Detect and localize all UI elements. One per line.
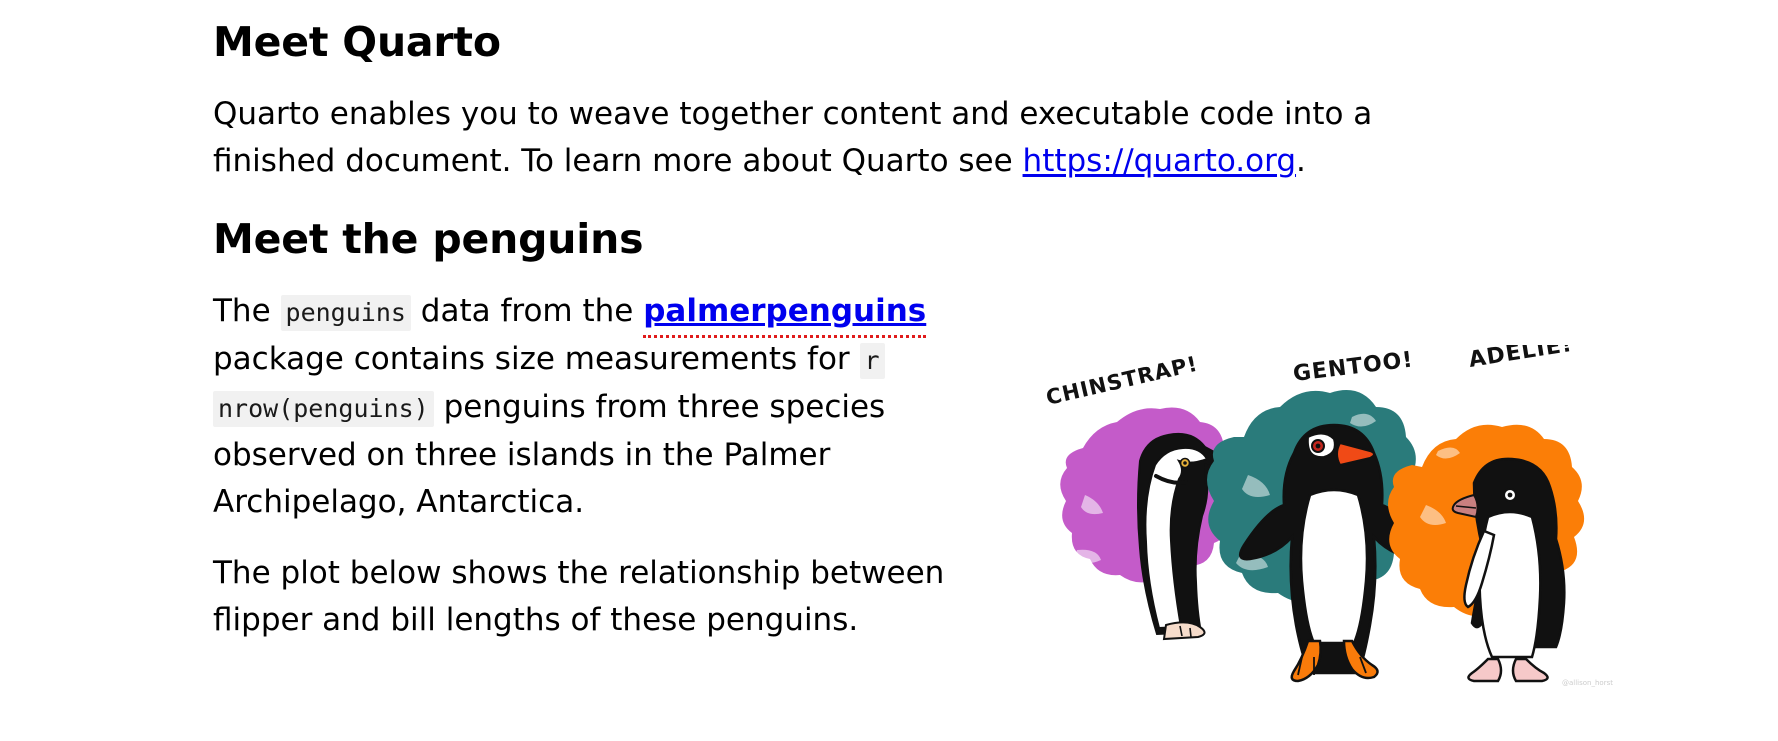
penguin-chinstrap-group: CHINSTRAP!: [1044, 352, 1234, 639]
penguins-paragraph: The penguins data from the palmerpenguin…: [213, 264, 958, 526]
quarto-org-link[interactable]: https://quarto.org: [1023, 143, 1296, 179]
penguins-text-seg1: The: [213, 293, 281, 329]
spellcheck-underline: [643, 332, 926, 338]
code-span-r: r: [860, 343, 885, 379]
page-title: Meet Quarto: [213, 0, 1503, 67]
chinstrap-label: CHINSTRAP!: [1044, 352, 1201, 410]
gentoo-left-foot: [1292, 641, 1321, 681]
adelie-label: ADÉLIE!: [1467, 345, 1574, 373]
artwork-credit: @allison_horst: [1562, 679, 1613, 687]
code-span-nrow-penguins: nrow(penguins): [213, 391, 434, 427]
adelie-label-group: ADÉLIE!: [1467, 345, 1574, 373]
document-page: Meet Quarto Quarto enables you to weave …: [0, 0, 1778, 741]
gentoo-belly: [1301, 490, 1367, 643]
section-heading-penguins: Meet the penguins: [213, 185, 1503, 264]
penguin-adelie-group: ADÉLIE!: [1388, 345, 1599, 681]
plot-paragraph: The plot below shows the relationship be…: [213, 526, 958, 644]
palmerpenguins-link-label: palmerpenguins: [643, 293, 926, 329]
intro-paragraph: Quarto enables you to weave together con…: [213, 67, 1503, 185]
gentoo-pupil: [1316, 444, 1321, 449]
adelie-pupil: [1508, 493, 1513, 498]
chinstrap-pupil: [1183, 461, 1187, 465]
palmerpenguins-illustration: CHINSTRAP!: [1022, 345, 1642, 695]
adelie-feet: [1468, 659, 1547, 681]
palmerpenguins-link[interactable]: palmerpenguins: [643, 293, 926, 329]
code-span-penguins: penguins: [281, 295, 411, 331]
gentoo-label-group: GENTOO!: [1292, 347, 1415, 387]
penguins-artwork-svg: CHINSTRAP!: [1022, 345, 1642, 695]
intro-text-after-link: .: [1296, 143, 1306, 179]
penguins-text-seg2: data from the: [411, 293, 643, 329]
chinstrap-label-group: CHINSTRAP!: [1044, 352, 1201, 410]
penguins-text-seg3: package contains size measurements for: [213, 341, 860, 377]
gentoo-label: GENTOO!: [1292, 347, 1415, 387]
